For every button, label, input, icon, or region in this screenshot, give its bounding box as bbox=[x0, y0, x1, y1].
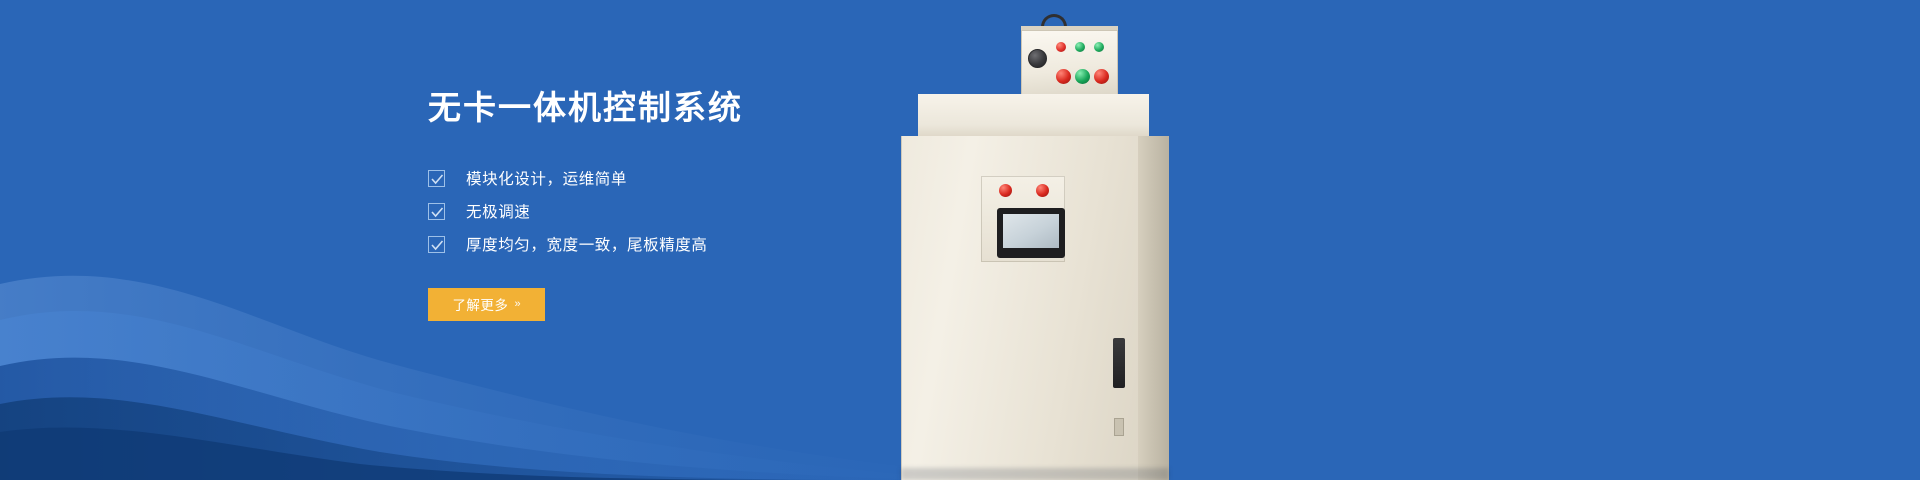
hero-banner: 无卡一体机控制系统 模块化设计，运维简单 无极调速 bbox=[0, 0, 1920, 480]
cabinet-top-cap bbox=[918, 94, 1149, 138]
chevron-right-icon: » bbox=[514, 298, 520, 310]
rotary-selector-knob bbox=[1028, 49, 1047, 68]
floor-shadow bbox=[901, 468, 1169, 480]
checkbox-checked-icon bbox=[428, 170, 445, 187]
learn-more-button[interactable]: 了解更多 » bbox=[428, 288, 545, 321]
indicator-lamp-red bbox=[1056, 42, 1066, 52]
indicator-lamp-green-2 bbox=[1094, 42, 1104, 52]
front-push-button-red bbox=[999, 184, 1012, 197]
hmi-touch-screen bbox=[1003, 214, 1059, 248]
list-item: 厚度均匀，宽度一致，尾板精度高 bbox=[428, 228, 948, 261]
feature-label: 厚度均匀，宽度一致，尾板精度高 bbox=[466, 233, 708, 255]
push-button-green bbox=[1075, 69, 1090, 84]
list-item: 无极调速 bbox=[428, 195, 948, 228]
learn-more-label: 了解更多 bbox=[452, 294, 508, 314]
cabinet-door-seam bbox=[901, 136, 902, 480]
industrial-control-cabinet-photo bbox=[895, 0, 1185, 480]
push-button-red-2 bbox=[1094, 69, 1109, 84]
indicator-lamp-green bbox=[1075, 42, 1085, 52]
feature-list: 模块化设计，运维简单 无极调速 厚度均匀，宽度一致，尾板精度高 bbox=[428, 162, 948, 261]
push-button-red bbox=[1056, 69, 1071, 84]
checkbox-checked-icon bbox=[428, 236, 445, 253]
feature-label: 模块化设计，运维简单 bbox=[466, 167, 627, 189]
door-lock-plate bbox=[1114, 418, 1124, 436]
checkbox-checked-icon bbox=[428, 203, 445, 220]
front-push-button-red-2 bbox=[1036, 184, 1049, 197]
feature-label: 无极调速 bbox=[466, 200, 530, 222]
hero-content: 无卡一体机控制系统 模块化设计，运维简单 无极调速 bbox=[428, 88, 948, 321]
cabinet-side-panel bbox=[1138, 136, 1169, 480]
vent-slot bbox=[1113, 338, 1125, 388]
control-head-panel bbox=[1021, 30, 1118, 96]
page-title: 无卡一体机控制系统 bbox=[428, 88, 948, 128]
list-item: 模块化设计，运维简单 bbox=[428, 162, 948, 195]
